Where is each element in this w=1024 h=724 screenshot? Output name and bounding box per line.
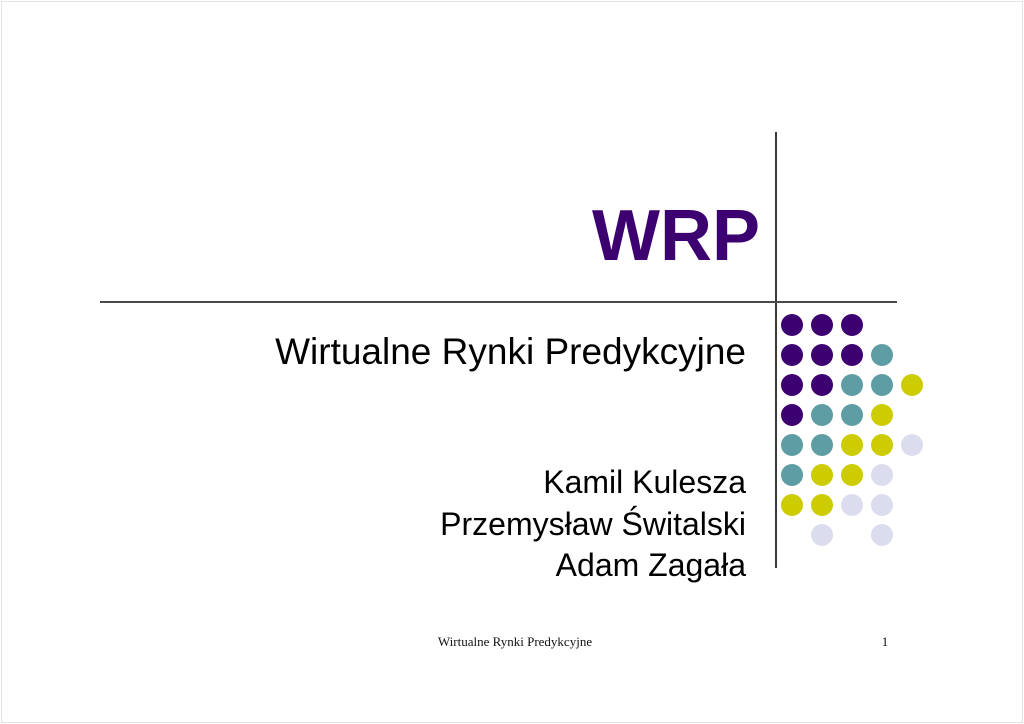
horizontal-divider-line	[100, 301, 897, 303]
slide-subtitle: Wirtualne Rynki Predykcyjne	[100, 331, 746, 374]
dot-purple	[811, 344, 833, 366]
dot-yellow	[901, 374, 923, 396]
vertical-divider-line	[775, 132, 777, 568]
dot-teal	[871, 344, 893, 366]
dot-teal	[781, 434, 803, 456]
author-name: Przemysław Świtalski	[200, 504, 746, 546]
dot-yellow	[841, 464, 863, 486]
dot-yellow	[811, 464, 833, 486]
dot-yellow	[871, 434, 893, 456]
author-list: Kamil Kulesza Przemysław Świtalski Adam …	[200, 462, 746, 587]
author-name: Adam Zagała	[200, 545, 746, 587]
footer-note: Wirtualne Rynki Predykcyjne	[330, 634, 700, 650]
dot-purple	[811, 374, 833, 396]
dot-purple	[841, 314, 863, 336]
dot-teal	[811, 434, 833, 456]
dot-purple	[811, 314, 833, 336]
dot-purple	[781, 404, 803, 426]
dot-purple	[841, 344, 863, 366]
dot-purple	[781, 314, 803, 336]
dot-teal	[871, 374, 893, 396]
dot-teal	[811, 404, 833, 426]
dot-lavender	[871, 524, 893, 546]
slide-title: WRP	[100, 200, 760, 272]
decorative-dot-grid	[781, 314, 936, 534]
slide-page: WRP Wirtualne Rynki Predykcyjne Kamil Ku…	[0, 0, 1024, 724]
dot-purple	[781, 374, 803, 396]
dot-yellow	[841, 434, 863, 456]
footer-page-number: 1	[855, 634, 915, 650]
dot-teal	[781, 464, 803, 486]
dot-lavender	[841, 494, 863, 516]
dot-purple	[781, 344, 803, 366]
dot-lavender	[871, 464, 893, 486]
dot-lavender	[871, 494, 893, 516]
dot-lavender	[901, 434, 923, 456]
dot-yellow	[811, 494, 833, 516]
dot-yellow	[871, 404, 893, 426]
dot-lavender	[811, 524, 833, 546]
dot-teal	[841, 404, 863, 426]
dot-yellow	[781, 494, 803, 516]
dot-teal	[841, 374, 863, 396]
author-name: Kamil Kulesza	[200, 462, 746, 504]
